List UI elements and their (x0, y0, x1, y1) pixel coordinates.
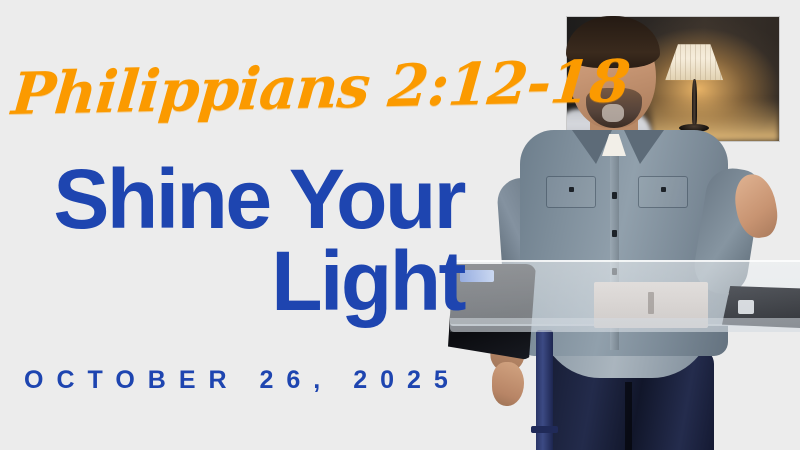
sermon-date: OCTOBER 26, 2025 (24, 366, 461, 395)
lectern-lip (450, 318, 800, 332)
scripture-reference: Philippians 2:12-18 (9, 44, 577, 132)
shirt-pocket-left (546, 176, 596, 208)
shirt-button (612, 192, 617, 199)
sermon-title-slide: Philippians 2:12-18 Shine Your Light OCT… (0, 0, 800, 450)
lectern-stem (536, 330, 553, 450)
page-title: Shine Your Light (0, 158, 464, 323)
speaker-left-hand (492, 362, 524, 406)
shirt-button (612, 230, 617, 237)
shirt-pocket-right (638, 176, 688, 208)
